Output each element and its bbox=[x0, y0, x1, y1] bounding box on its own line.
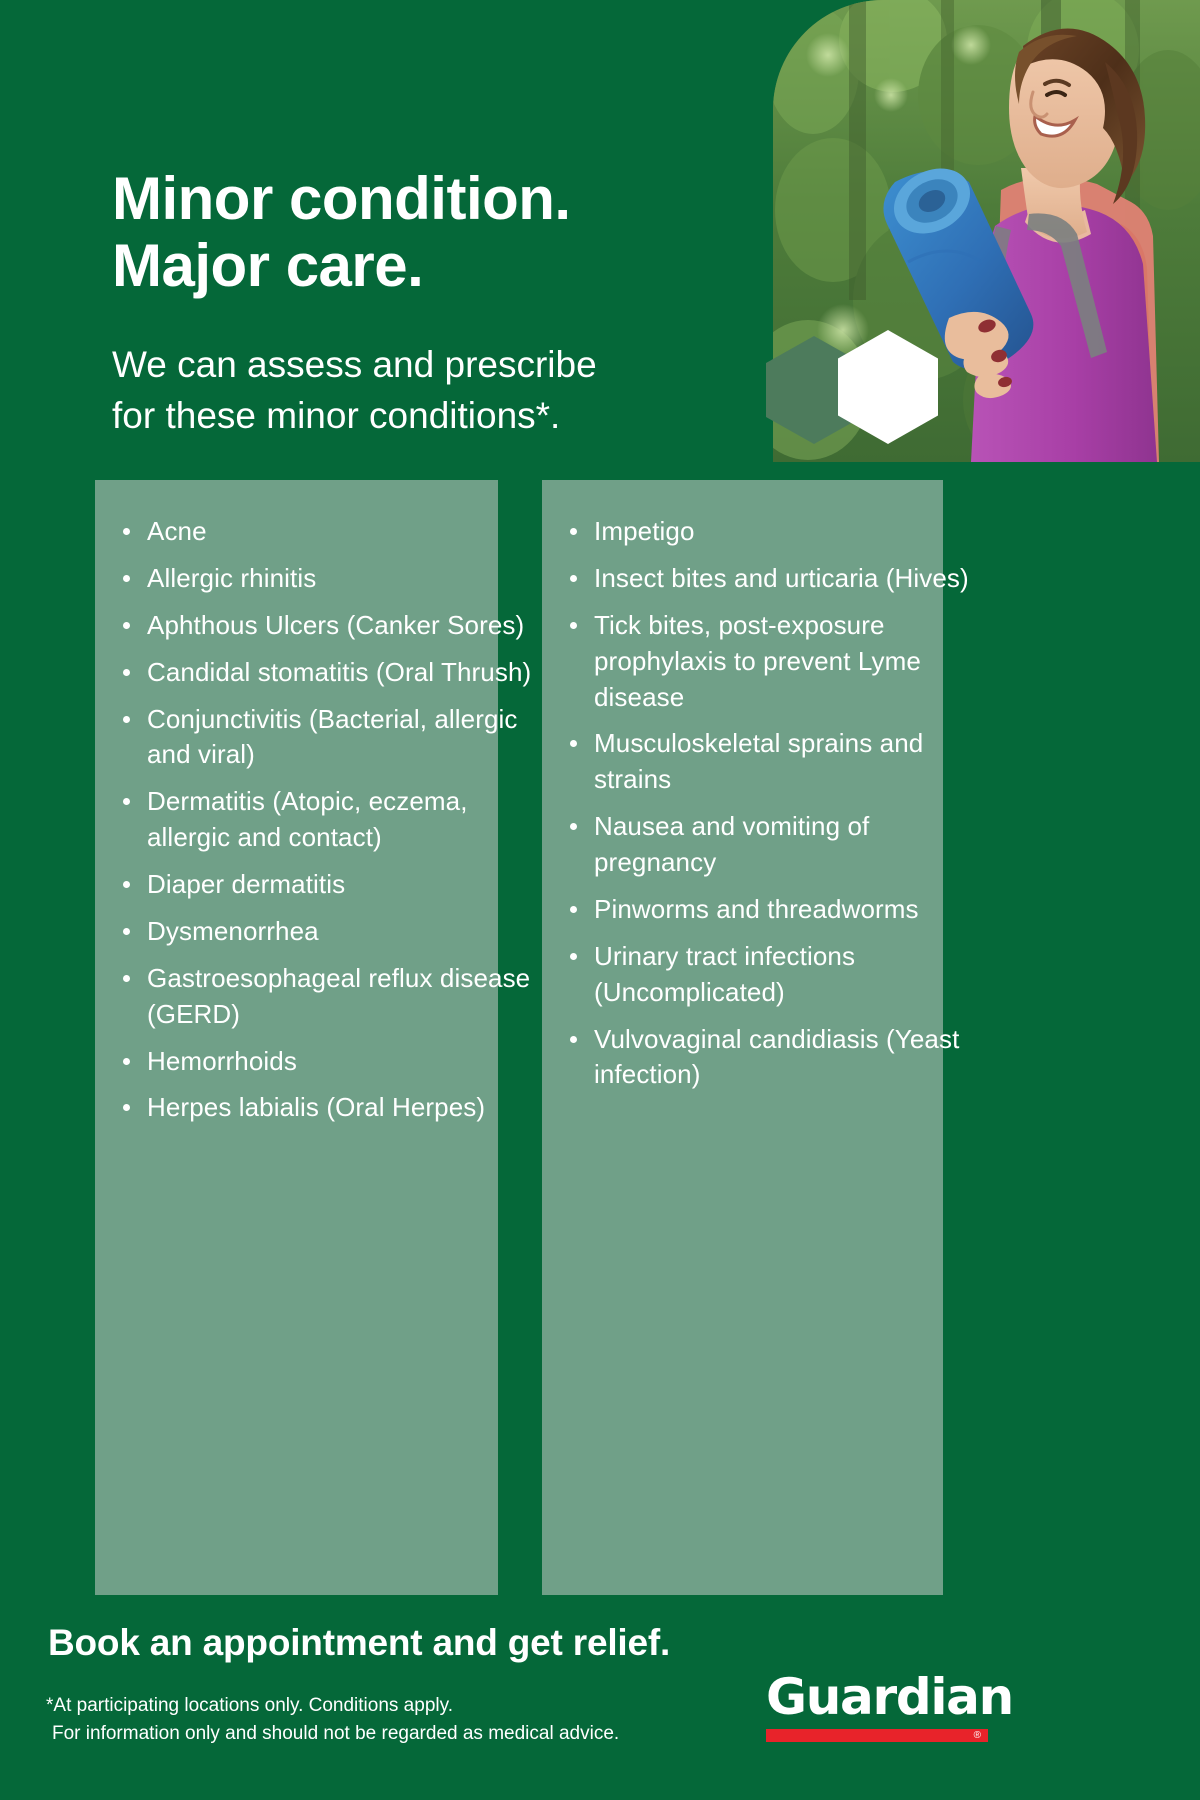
hexagon-white-decoration bbox=[838, 330, 938, 444]
conditions-panel-left: Acne Allergic rhinitis Aphthous Ulcers (… bbox=[95, 480, 498, 1595]
list-item: Aphthous Ulcers (Canker Sores) bbox=[117, 608, 537, 644]
poster-root: Minor condition.Major care. We can asses… bbox=[0, 0, 1200, 1800]
headline-line-2: Major care. bbox=[112, 232, 732, 299]
conditions-list-left: Acne Allergic rhinitis Aphthous Ulcers (… bbox=[117, 514, 537, 1137]
list-item: Conjunctivitis (Bacterial, allergic and … bbox=[117, 702, 537, 774]
guardian-logo: Guardian ® bbox=[766, 1672, 988, 1742]
list-item: Candidal stomatitis (Oral Thrush) bbox=[117, 655, 537, 691]
list-item: Dysmenorrhea bbox=[117, 914, 537, 950]
list-item: Musculoskeletal sprains and strains bbox=[564, 726, 984, 798]
list-item: Dermatitis (Atopic, eczema, allergic and… bbox=[117, 784, 537, 856]
guardian-logo-red-bar: ® bbox=[766, 1729, 988, 1742]
disclaimer-line-1: *At participating locations only. Condit… bbox=[46, 1695, 453, 1716]
list-item: Hemorrhoids bbox=[117, 1044, 537, 1080]
list-item: Pinworms and threadworms bbox=[564, 892, 984, 928]
disclaimer-line-2: For information only and should not be r… bbox=[46, 1720, 619, 1748]
footer-cta-text: Book an appointment and get relief. bbox=[48, 1622, 670, 1664]
conditions-panel-right: Impetigo Insect bites and urticaria (Hiv… bbox=[542, 480, 943, 1595]
page-title: Minor condition.Major care. bbox=[112, 165, 732, 299]
list-item: Diaper dermatitis bbox=[117, 867, 537, 903]
list-item: Impetigo bbox=[564, 514, 984, 550]
subhead-line-1: We can assess and prescribe bbox=[112, 344, 597, 385]
list-item: Acne bbox=[117, 514, 537, 550]
list-item: Tick bites, post-exposure prophylaxis to… bbox=[564, 608, 984, 716]
hexagon-shape bbox=[838, 330, 938, 444]
guardian-logo-wordmark: Guardian bbox=[766, 1672, 988, 1722]
list-item: Herpes labialis (Oral Herpes) bbox=[117, 1090, 537, 1126]
footer-disclaimer: *At participating locations only. Condit… bbox=[46, 1692, 619, 1747]
list-item: Allergic rhinitis bbox=[117, 561, 537, 597]
subheading: We can assess and prescribefor these min… bbox=[112, 339, 712, 441]
list-item: Nausea and vomiting of pregnancy bbox=[564, 809, 984, 881]
headline-line-1: Minor condition. bbox=[112, 165, 571, 232]
list-item: Vulvovaginal candidiasis (Yeast infectio… bbox=[564, 1022, 984, 1094]
subhead-line-2: for these minor conditions*. bbox=[112, 390, 712, 441]
list-item: Insect bites and urticaria (Hives) bbox=[564, 561, 984, 597]
list-item: Urinary tract infections (Uncomplicated) bbox=[564, 939, 984, 1011]
registered-trademark-icon: ® bbox=[974, 1730, 981, 1741]
conditions-list-right: Impetigo Insect bites and urticaria (Hiv… bbox=[564, 514, 984, 1104]
list-item: Gastroesophageal reflux disease (GERD) bbox=[117, 961, 537, 1033]
